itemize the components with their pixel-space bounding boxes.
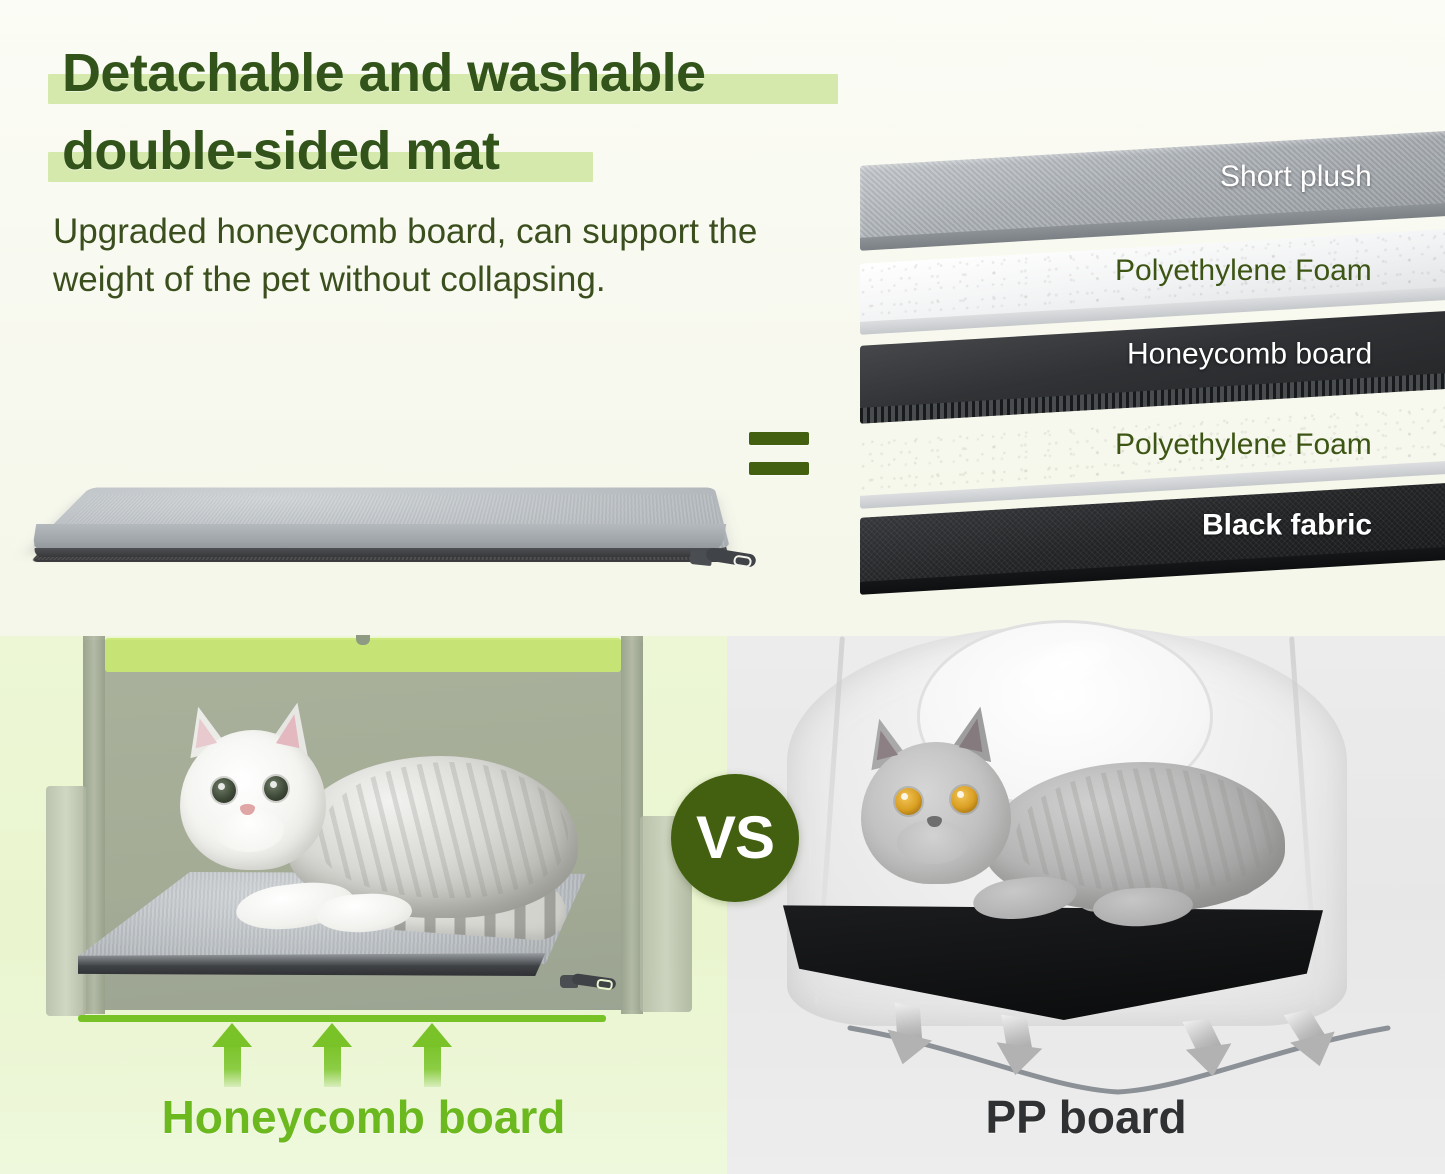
title-text-2: double-sided mat <box>62 121 499 181</box>
arrow-down-head-1 <box>880 1030 932 1070</box>
arrow-down-icon-2 <box>992 1015 1054 1084</box>
layer-label-black-fabric: Black fabric <box>1202 508 1372 542</box>
vs-badge: VS <box>671 774 799 902</box>
layer-label-short-plush: Short plush <box>1220 160 1372 194</box>
infographic-page: Detachable and washable double-sided mat… <box>0 0 1445 1174</box>
subtitle-text: Upgraded honeycomb board, can support th… <box>53 208 813 304</box>
arrow-up-icon-2 <box>312 1023 352 1085</box>
arrow-down-icon-3 <box>1182 1015 1244 1084</box>
cat-gray-shorthair <box>835 702 1275 962</box>
vs-label: VS <box>696 808 774 868</box>
zipper-tab-left <box>571 973 616 990</box>
layer-label-foam-bottom: Polyethylene Foam <box>1115 428 1372 462</box>
zipper-pull-icon-left <box>560 972 620 1000</box>
cat-eye-left-right-panel <box>895 788 922 815</box>
layer-label-honeycomb-board: Honeycomb board <box>1127 338 1372 372</box>
zipper-pull-icon <box>690 545 760 579</box>
equals-bar-top <box>749 432 809 445</box>
layer-short-plush: Short plush <box>860 130 1445 240</box>
caption-pp-board: PP board <box>727 1090 1445 1144</box>
arrow-up-shaft-3 <box>424 1043 441 1087</box>
mat-bottom-edge <box>33 548 722 557</box>
arrow-up-shaft-2 <box>324 1043 341 1087</box>
arrow-down-head-3 <box>1186 1043 1236 1079</box>
arrow-up-head-2 <box>312 1023 352 1047</box>
title-text-1: Detachable and washable <box>62 43 705 103</box>
layer-stack-diagram: Short plush Polyethylene Foam Honeycomb … <box>860 148 1445 580</box>
title-line-1: Detachable and washable <box>62 34 892 112</box>
top-section: Detachable and washable double-sided mat… <box>0 0 1445 636</box>
equals-sign-icon <box>749 432 809 480</box>
page-title: Detachable and washable double-sided mat <box>62 34 892 190</box>
caption-honeycomb-board: Honeycomb board <box>0 1090 727 1144</box>
equals-bar-bottom <box>749 462 809 475</box>
carrier-knob <box>356 635 370 645</box>
layer-label-foam-top: Polyethylene Foam <box>1115 254 1372 288</box>
arrow-up-shaft-1 <box>224 1043 241 1087</box>
cat-eye-left <box>212 778 236 803</box>
cat-paw-right-front-left <box>971 872 1079 924</box>
support-line-green <box>78 1015 606 1022</box>
title-line-2: double-sided mat <box>62 112 892 190</box>
arrow-down-head-2 <box>993 1042 1043 1078</box>
zipper-tab <box>705 547 756 568</box>
arrow-up-head-1 <box>212 1023 252 1047</box>
arrow-up-icon-3 <box>412 1023 452 1085</box>
cat-silver-tabby <box>140 688 580 948</box>
arrow-up-head-3 <box>412 1023 452 1047</box>
cat-eye-right <box>264 776 288 801</box>
product-mat-image <box>12 402 772 592</box>
cat-eye-right-right-panel <box>951 786 978 813</box>
arrow-up-icon-1 <box>212 1023 252 1085</box>
